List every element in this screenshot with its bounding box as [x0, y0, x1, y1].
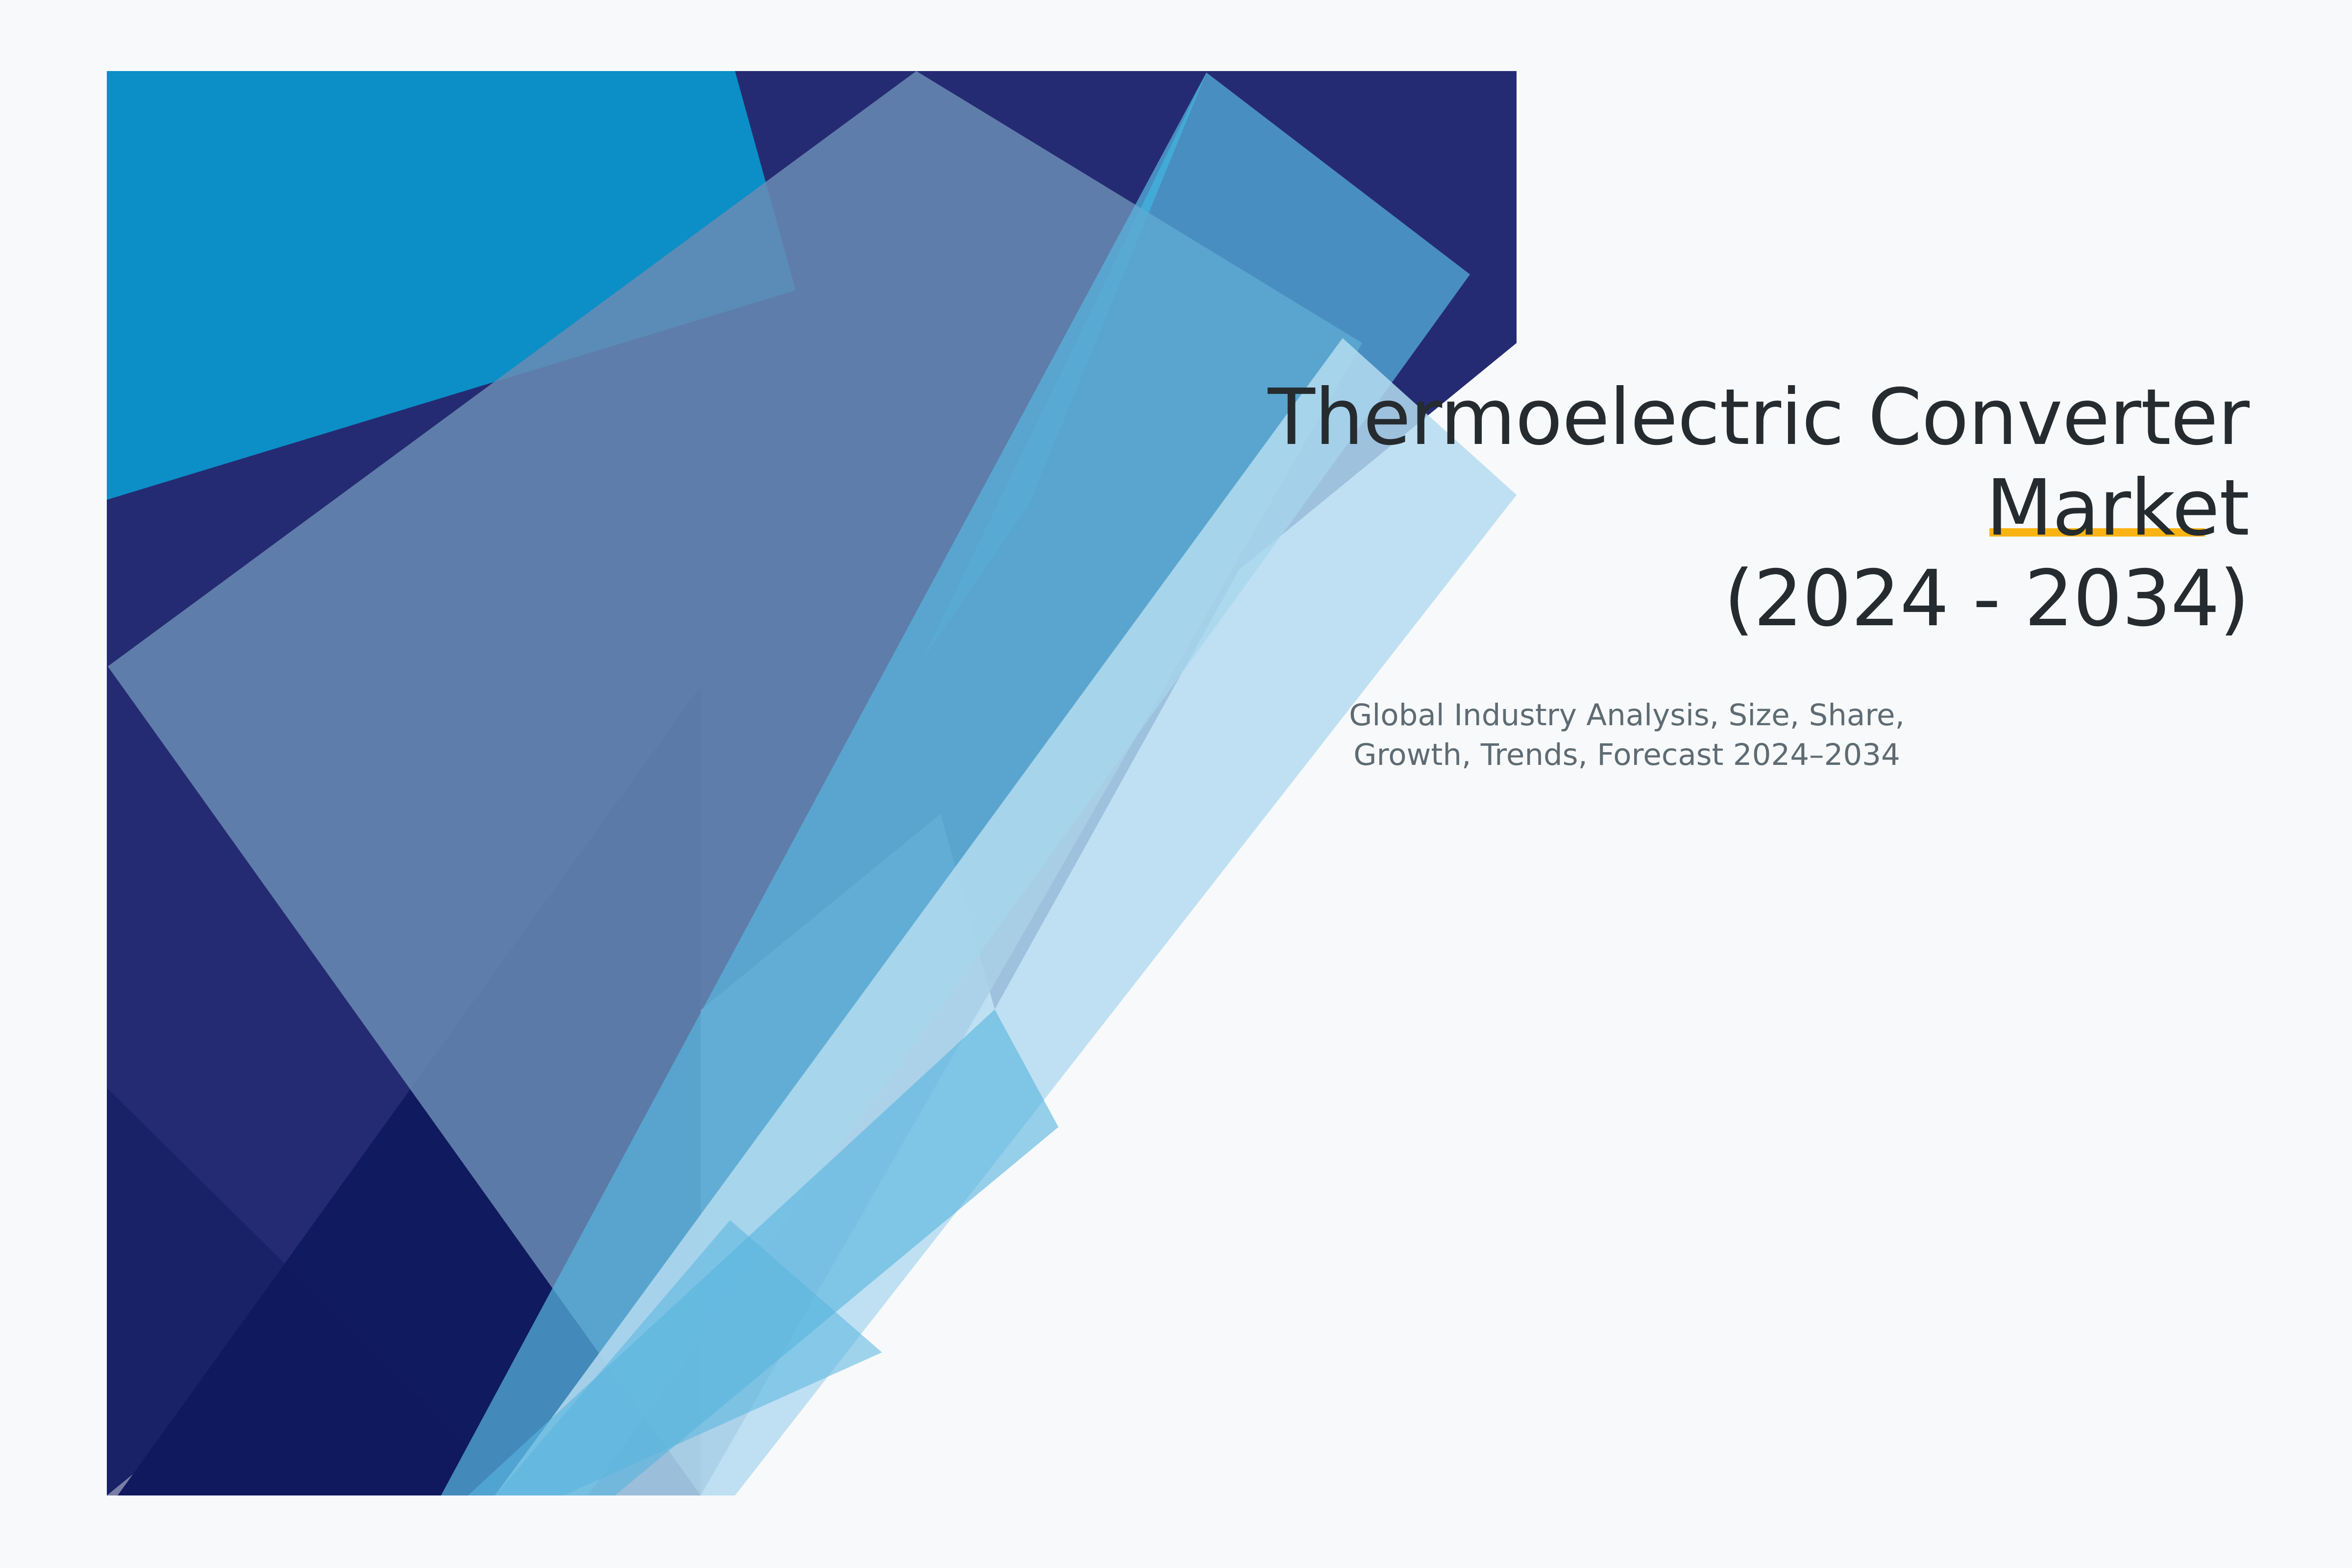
cover-text-block: Thermoelectric Converter Market (2024 - …	[1004, 372, 2249, 775]
cover-artwork	[0, 0, 2352, 1568]
cover-page: Thermoelectric Converter Market (2024 - …	[0, 0, 2352, 1568]
slate-blue-panel	[108, 71, 1362, 1495]
sky-blue-lower-fan	[468, 1009, 1058, 1495]
navy-upper-band	[107, 71, 1517, 1495]
deep-navy-lower-field	[107, 1088, 519, 1495]
sky-blue-bottom-band	[495, 1220, 882, 1495]
page-title: Thermoelectric Converter Market (2024 - …	[1004, 372, 2249, 644]
title-wrapper: Thermoelectric Converter Market (2024 - …	[1004, 372, 2249, 644]
deep-navy-lower-wedge	[118, 686, 701, 1495]
sky-blue-diagonal-band	[441, 73, 1470, 1495]
page-subtitle: Global Industry Analysis, Size, Share, G…	[1004, 644, 2249, 775]
